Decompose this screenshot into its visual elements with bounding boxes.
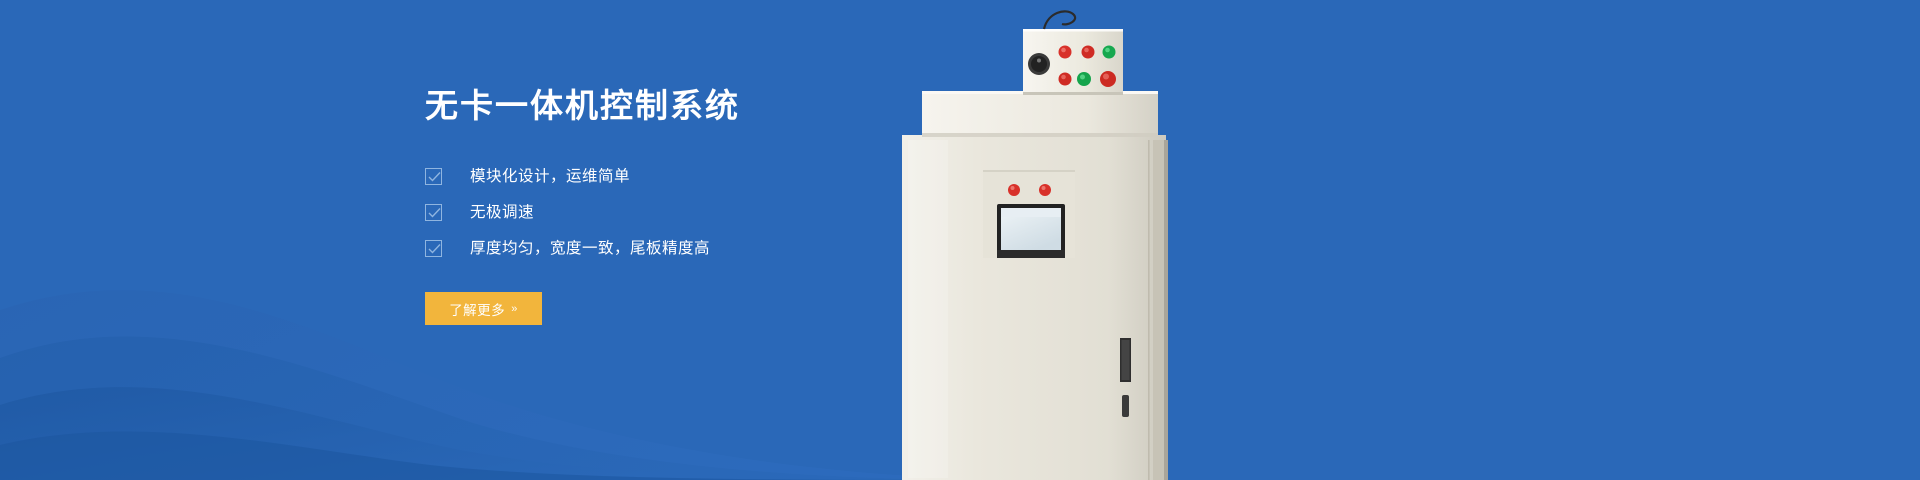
machine-photo (898, 0, 1198, 480)
checkbox-checked-icon (425, 204, 442, 221)
list-item: 厚度均匀，宽度一致，尾板精度高 (425, 240, 895, 257)
checkbox-checked-icon (425, 168, 442, 185)
list-item: 模块化设计，运维简单 (425, 168, 895, 185)
hero-banner: 无卡一体机控制系统 模块化设计，运维简单 无极调速 (0, 0, 1920, 480)
feature-label: 厚度均匀，宽度一致，尾板精度高 (470, 240, 710, 257)
checkbox-checked-icon (425, 240, 442, 257)
feature-list: 模块化设计，运维简单 无极调速 厚度均匀，宽度一致，尾板精度高 (425, 168, 895, 257)
learn-more-label: 了解更多 (449, 299, 505, 319)
feature-label: 模块化设计，运维简单 (470, 168, 630, 185)
learn-more-button[interactable]: 了解更多 » (425, 292, 542, 325)
list-item: 无极调速 (425, 204, 895, 221)
feature-label: 无极调速 (470, 204, 534, 221)
chevron-right-icon: » (511, 303, 518, 315)
page-title: 无卡一体机控制系统 (425, 86, 895, 126)
hero-content: 无卡一体机控制系统 模块化设计，运维简单 无极调速 (425, 86, 895, 325)
